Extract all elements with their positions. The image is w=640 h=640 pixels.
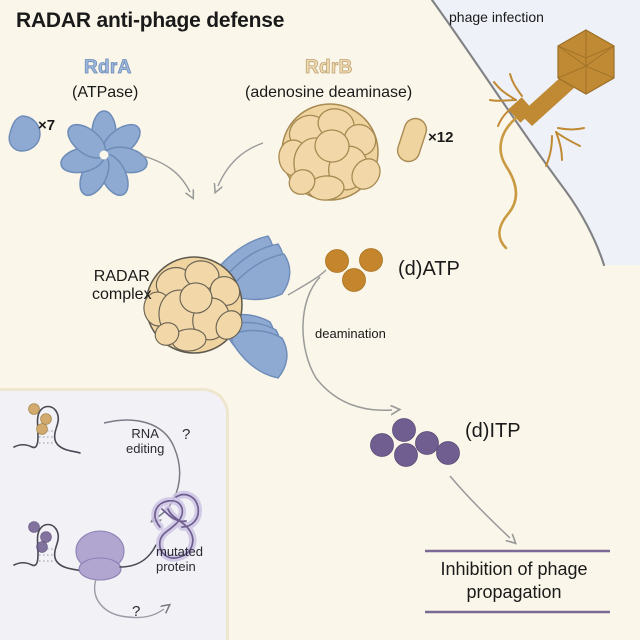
inset-mutated-protein-label: mutated protein — [156, 545, 203, 574]
rdra-function-label: (ATPase) — [72, 84, 138, 102]
page-title: RADAR anti-phage defense — [16, 9, 284, 33]
datp-label: (d)ATP — [398, 258, 460, 280]
inset-rna-editing-label: RNA editing — [126, 427, 164, 456]
inset-question-mark-1: ? — [182, 427, 190, 444]
inset-outcome-arrow — [95, 579, 164, 618]
rdra-protein-label: RdrA — [84, 57, 132, 78]
ditp-label: (d)ITP — [465, 420, 521, 442]
radar-defense-figure: RADAR anti-phage defense RdrA (ATPase) ×… — [0, 0, 640, 640]
inset-question-mark-2: ? — [132, 604, 140, 621]
phage-infection-label: phage infection — [449, 10, 544, 26]
radar-complex-label: RADAR complex — [92, 268, 152, 304]
inset-rna-hairpin-unedited-icon — [14, 404, 80, 453]
inset-graphics — [0, 391, 226, 640]
deamination-label: deamination — [315, 327, 386, 342]
inset-rna-hairpin-edited-icon — [14, 522, 82, 571]
rna-editing-inset-panel — [0, 388, 229, 640]
rdra-stoichiometry-label: ×7 — [38, 118, 55, 135]
inset-ribosome-icon — [76, 531, 124, 580]
rdrb-function-label: (adenosine deaminase) — [245, 84, 412, 102]
rdrb-protein-label: RdrB — [305, 57, 353, 78]
inhibition-outcome-label: Inhibition of phage propagation — [424, 558, 604, 603]
rdrb-stoichiometry-label: ×12 — [428, 130, 453, 147]
